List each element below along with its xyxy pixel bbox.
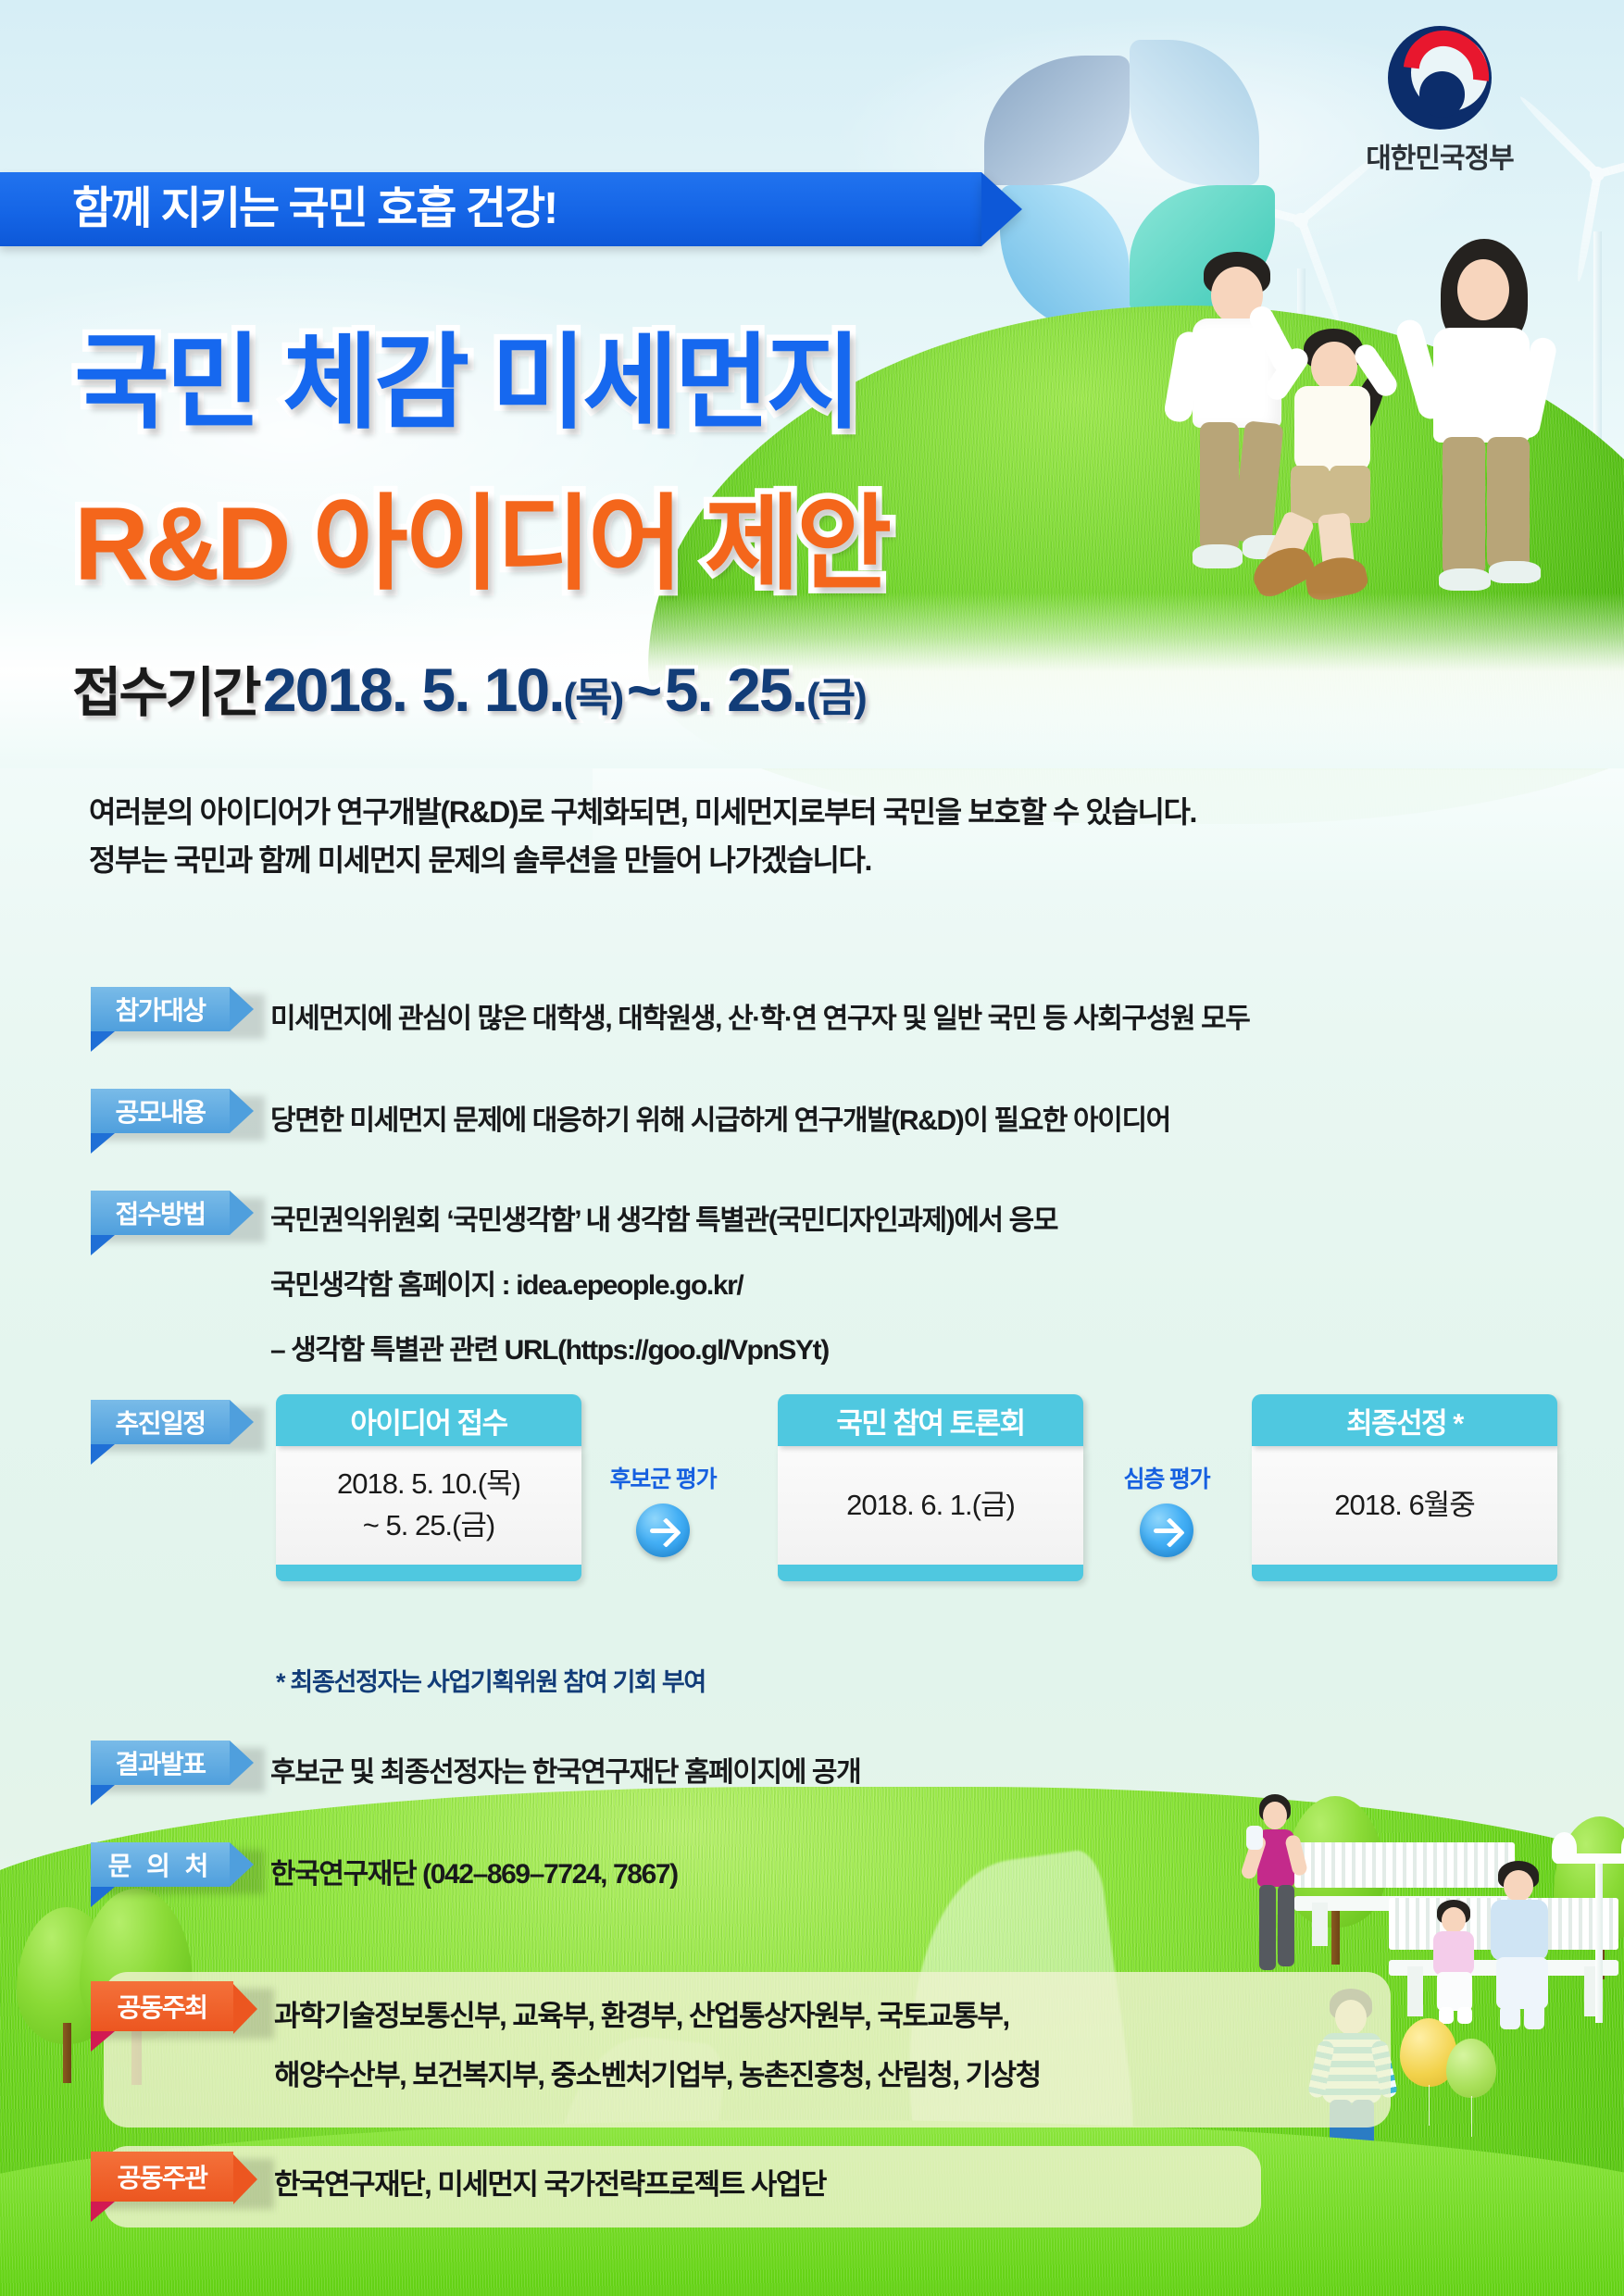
tag-comanage-fold bbox=[91, 2202, 115, 2222]
timeline-step-1-line1: 2018. 5. 10.(목) bbox=[337, 1464, 520, 1505]
tag-schedule: 추진일정 bbox=[91, 1400, 230, 1444]
taegeuk-icon bbox=[1388, 26, 1492, 130]
tag-comanage: 공동주관 bbox=[91, 2152, 233, 2202]
timeline-step-3-title: 최종선정 * bbox=[1252, 1394, 1557, 1446]
tag-cohost-fold bbox=[91, 2031, 115, 2052]
timeline-step-2-line1: 2018. 6. 1.(금) bbox=[846, 1485, 1015, 1527]
tag-cohost: 공동주최 bbox=[91, 1981, 233, 2031]
timeline-connector-2-label: 심층 평가 bbox=[1102, 1461, 1231, 1494]
tag-comanage-arrow bbox=[233, 2154, 257, 2204]
tag-contact: 문 의 처 bbox=[91, 1842, 230, 1887]
header-ribbon: 함께 지키는 국민 호흡 건강! bbox=[0, 172, 981, 246]
photo-mother bbox=[1407, 239, 1579, 586]
tag-cohost-arrow bbox=[233, 1984, 257, 2034]
application-period-label: 접수기간 bbox=[72, 663, 258, 723]
comanage-line-1: 한국연구재단, 미세먼지 국가전략프로젝트 사업단 bbox=[274, 2157, 826, 2213]
arrow-right-icon bbox=[636, 1504, 690, 1557]
lead-paragraph: 여러분의 아이디어가 연구개발(R&D)로 구체화되면, 미세먼지로부터 국민을… bbox=[89, 789, 1570, 885]
header-ribbon-text: 함께 지키는 국민 호흡 건강! bbox=[72, 187, 556, 231]
page-title-line1: 국민 체감 미세먼지 bbox=[74, 331, 858, 435]
tag-result-announcement-fold bbox=[91, 1785, 115, 1805]
timeline-step-1-title: 아이디어 접수 bbox=[276, 1394, 581, 1446]
timeline-step-3-foot bbox=[1252, 1565, 1557, 1581]
page-title-line2: R&D 아이디어 제안 bbox=[74, 493, 888, 596]
poster-root: 대한민국정부 함께 지키는 국민 호흡 건강! 국민 체감 미세먼지 R&D 아… bbox=[0, 0, 1624, 2296]
application-period-start-dow: (목) bbox=[564, 675, 623, 720]
timeline-step-1: 아이디어 접수 2018. 5. 10.(목) ~ 5. 25.(금) bbox=[276, 1394, 581, 1581]
schedule-note: * 최종선정자는 사업기획위원 참여 기회 부여 bbox=[276, 1662, 706, 1698]
application-period-start: 2018. 5. 10. bbox=[263, 655, 564, 724]
cohost-line-1: 과학기술정보통신부, 교육부, 환경부, 산업통상자원부, 국토교통부, bbox=[274, 1989, 1009, 2044]
header-ribbon-tip bbox=[981, 172, 1022, 246]
tag-how-to-apply: 접수방법 bbox=[91, 1191, 230, 1235]
tag-how-to-apply-fold bbox=[91, 1235, 115, 1255]
tag-participants: 참가대상 bbox=[91, 987, 230, 1031]
row-how-to-apply-line2[interactable]: 국민생각함 홈페이지 : idea.epeople.go.kr/ bbox=[270, 1259, 743, 1312]
timeline-connector-1-label: 후보군 평가 bbox=[598, 1461, 728, 1494]
timeline-step-2-body: 2018. 6. 1.(금) bbox=[778, 1446, 1083, 1565]
row-how-to-apply-line3[interactable]: – 생각함 특별관 관련 URL(https://goo.gl/VpnSYt) bbox=[270, 1324, 829, 1377]
government-logo-label: 대한민국정부 bbox=[1333, 135, 1546, 176]
timeline-step-1-foot bbox=[276, 1565, 581, 1581]
tag-contact-fold bbox=[91, 1887, 115, 1907]
cohost-line-2: 해양수산부, 보건복지부, 중소벤처기업부, 농촌진흥청, 산림청, 기상청 bbox=[274, 2048, 1041, 2103]
timeline-step-3: 최종선정 * 2018. 6월중 bbox=[1252, 1394, 1557, 1581]
row-contact-text: 한국연구재단 (042–869–7724, 7867) bbox=[270, 1848, 678, 1901]
tag-how-to-apply-arrow bbox=[230, 1191, 254, 1235]
photo-seated-daughter bbox=[1426, 1900, 1483, 2029]
timeline-step-2-title: 국민 참여 토론회 bbox=[778, 1394, 1083, 1446]
application-period-tilde: ~ bbox=[627, 655, 661, 724]
timeline-step-2: 국민 참여 토론회 2018. 6. 1.(금) bbox=[778, 1394, 1083, 1581]
row-contest-content-text: 당면한 미세먼지 문제에 대응하기 위해 시급하게 연구개발(R&D)이 필요한… bbox=[270, 1094, 1170, 1147]
tag-participants-fold bbox=[91, 1031, 115, 1052]
timeline-step-1-body: 2018. 5. 10.(목) ~ 5. 25.(금) bbox=[276, 1446, 581, 1565]
photo-seated-father bbox=[1481, 1861, 1559, 2028]
row-participants-text: 미세먼지에 관심이 많은 대학생, 대학원생, 산·학·연 연구자 및 일반 국… bbox=[270, 992, 1249, 1045]
tag-schedule-arrow bbox=[230, 1400, 254, 1444]
government-logo: 대한민국정부 bbox=[1333, 26, 1546, 176]
tag-contact-arrow bbox=[230, 1842, 254, 1887]
application-period: 접수기간 2018. 5. 10.(목) ~ 5. 25.(금) bbox=[72, 659, 866, 720]
timeline-step-3-body: 2018. 6월중 bbox=[1252, 1446, 1557, 1565]
row-how-to-apply-line1: 국민권익위원회 ‘국민생각함’ 내 생각함 특별관(국민디자인과제)에서 응모 bbox=[270, 1194, 1057, 1247]
application-period-end: 5. 25. bbox=[665, 655, 806, 724]
photo-jogger bbox=[1243, 1794, 1309, 1990]
timeline-step-2-foot bbox=[778, 1565, 1083, 1581]
arrow-right-icon bbox=[1140, 1504, 1193, 1557]
tag-contest-content-fold bbox=[91, 1133, 115, 1154]
tag-result-announcement: 결과발표 bbox=[91, 1741, 230, 1785]
timeline-step-1-line2: ~ 5. 25.(금) bbox=[363, 1505, 494, 1547]
timeline-connector-1: 후보군 평가 bbox=[598, 1461, 728, 1557]
park-lamp-post bbox=[1548, 1828, 1624, 2023]
tag-schedule-fold bbox=[91, 1444, 115, 1465]
timeline-step-3-line1: 2018. 6월중 bbox=[1334, 1485, 1474, 1527]
tag-participants-arrow bbox=[230, 987, 254, 1031]
timeline-connector-2: 심층 평가 bbox=[1102, 1461, 1231, 1557]
balloon-green bbox=[1446, 2039, 1496, 2098]
tag-result-announcement-arrow bbox=[230, 1741, 254, 1785]
application-period-end-dow: (금) bbox=[806, 675, 866, 720]
lead-line-1: 여러분의 아이디어가 연구개발(R&D)로 구체화되면, 미세먼지로부터 국민을… bbox=[89, 789, 1570, 837]
tag-contest-content-arrow bbox=[230, 1089, 254, 1133]
lead-line-2: 정부는 국민과 함께 미세먼지 문제의 솔루션을 만들어 나가겠습니다. bbox=[89, 837, 1570, 885]
tag-contest-content: 공모내용 bbox=[91, 1089, 230, 1133]
